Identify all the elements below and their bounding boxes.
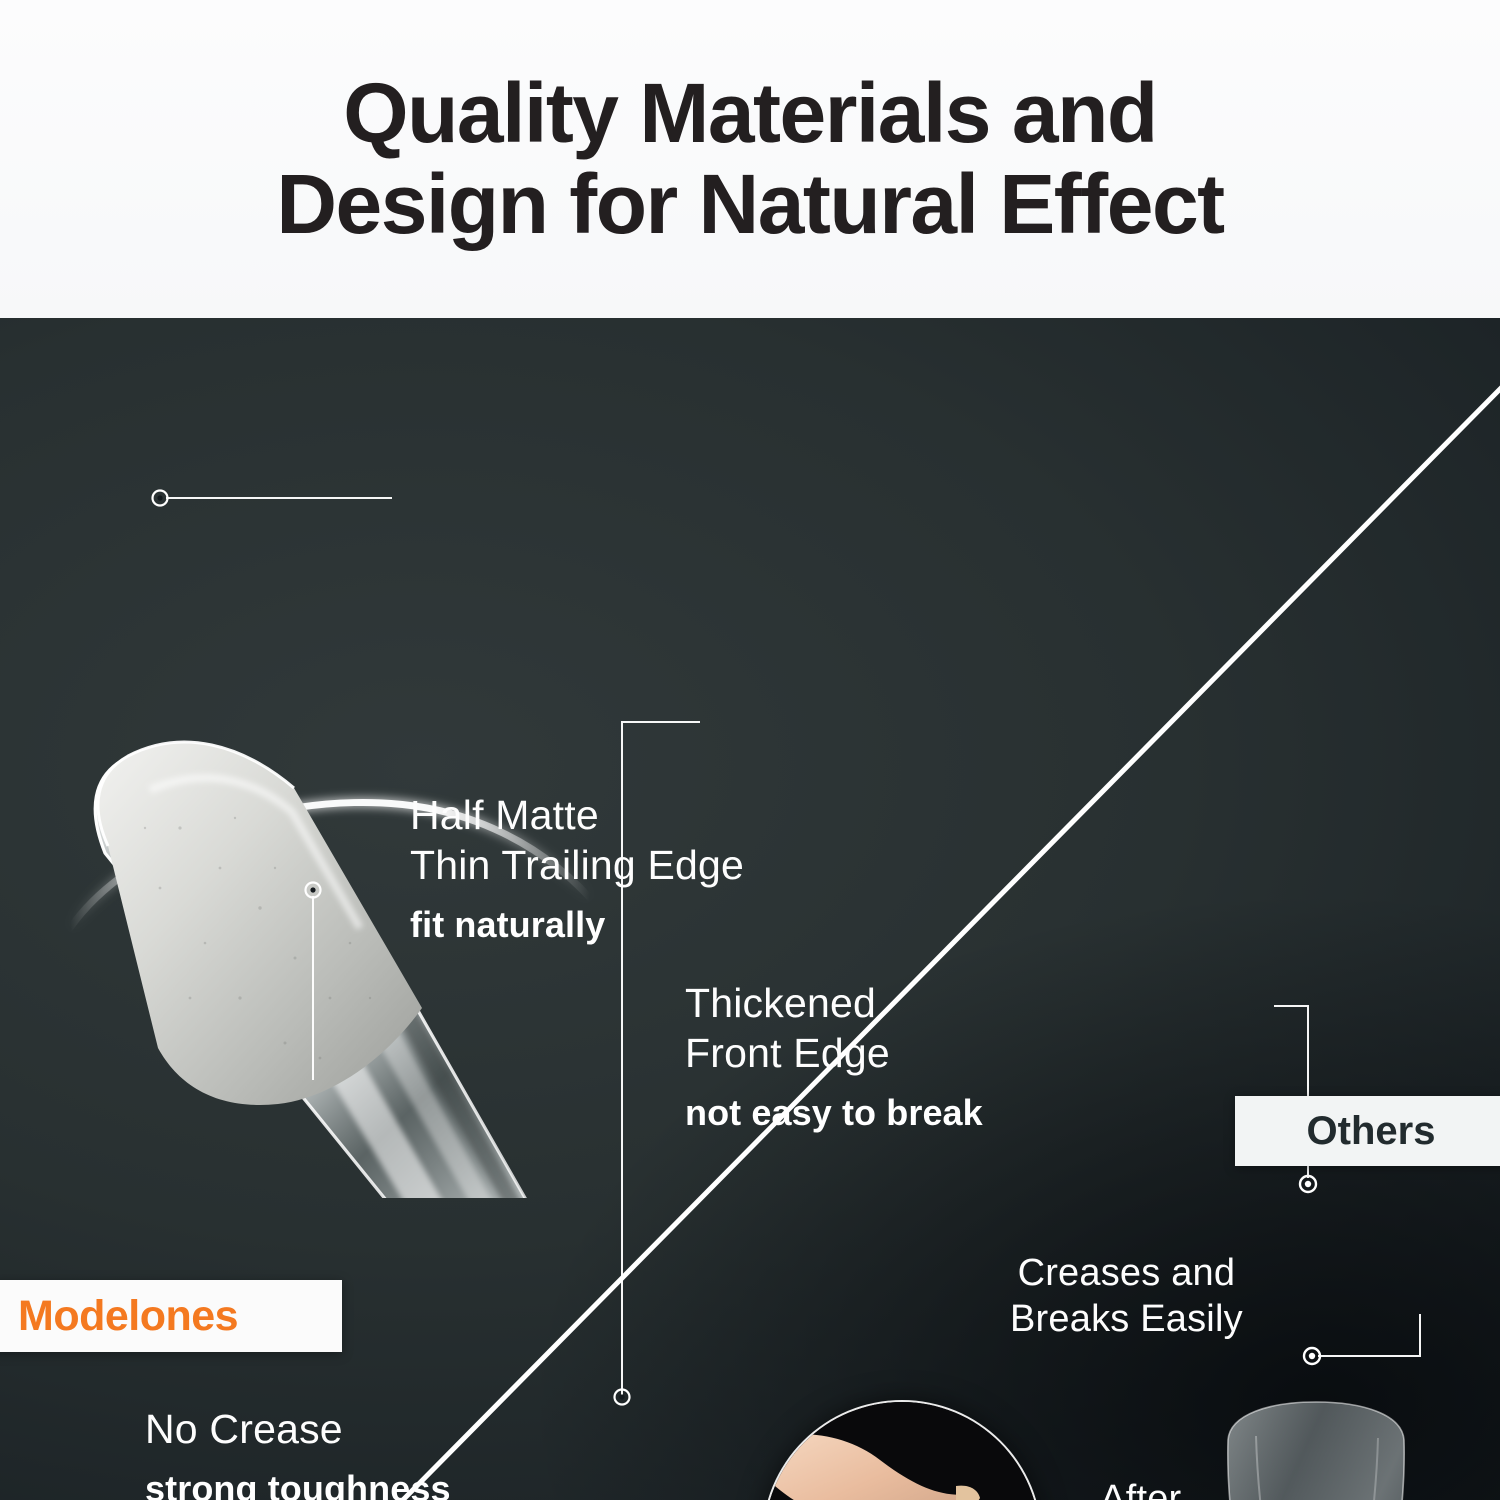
callout-no-crease-sub: strong toughness bbox=[145, 1468, 451, 1500]
abs-nail-illustration bbox=[1196, 1396, 1436, 1500]
page-title-line-1: Quality Materials and bbox=[343, 66, 1156, 160]
callout-thickened-front-edge: Thickened Front Edge not easy to break bbox=[685, 978, 983, 1134]
marker-front-edge bbox=[615, 1390, 630, 1405]
nail-matte-area bbox=[98, 742, 422, 1105]
callout-creases-breaks: Creases and Breaks Easily bbox=[1010, 1250, 1243, 1343]
comparison-stage: Half Matte Thin Trailing Edge fit natura… bbox=[0, 318, 1500, 1500]
abs-nail-svg bbox=[1196, 1396, 1436, 1500]
brand-badge-label: Modelones bbox=[18, 1292, 238, 1341]
callout-after-bend: After Bend bbox=[1096, 1476, 1186, 1500]
bend-demo-photo bbox=[762, 1400, 1042, 1500]
callout-thickened-main: Thickened Front Edge bbox=[685, 978, 983, 1078]
callout-thickened-sub: not easy to break bbox=[685, 1092, 983, 1134]
callout-no-crease: No Crease strong toughness bbox=[145, 1404, 451, 1500]
competitor-badge-label: Others bbox=[1307, 1109, 1436, 1154]
callout-half-matte-main: Half Matte Thin Trailing Edge bbox=[410, 790, 744, 890]
marker-creases bbox=[1300, 1176, 1316, 1192]
page-title-line-2: Design for Natural Effect bbox=[100, 159, 1400, 250]
leader-abs bbox=[1318, 1314, 1420, 1356]
callout-creases-main: Creases and Breaks Easily bbox=[1010, 1250, 1243, 1343]
marker-abs bbox=[1304, 1348, 1320, 1364]
callout-no-crease-main: No Crease bbox=[145, 1404, 451, 1454]
bend-photo-svg bbox=[764, 1402, 1040, 1500]
callout-half-matte: Half Matte Thin Trailing Edge fit natura… bbox=[410, 790, 744, 946]
callout-half-matte-sub: fit naturally bbox=[410, 904, 744, 946]
brand-badge-modelones: Modelones bbox=[0, 1280, 342, 1352]
product-infographic: Quality Materials and Design for Natural… bbox=[0, 0, 1500, 1500]
page-title: Quality Materials and Design for Natural… bbox=[100, 68, 1400, 249]
competitor-badge-others: Others bbox=[1235, 1096, 1500, 1166]
callout-after-bend-main: After Bend bbox=[1096, 1476, 1186, 1500]
header-banner: Quality Materials and Design for Natural… bbox=[0, 0, 1500, 318]
